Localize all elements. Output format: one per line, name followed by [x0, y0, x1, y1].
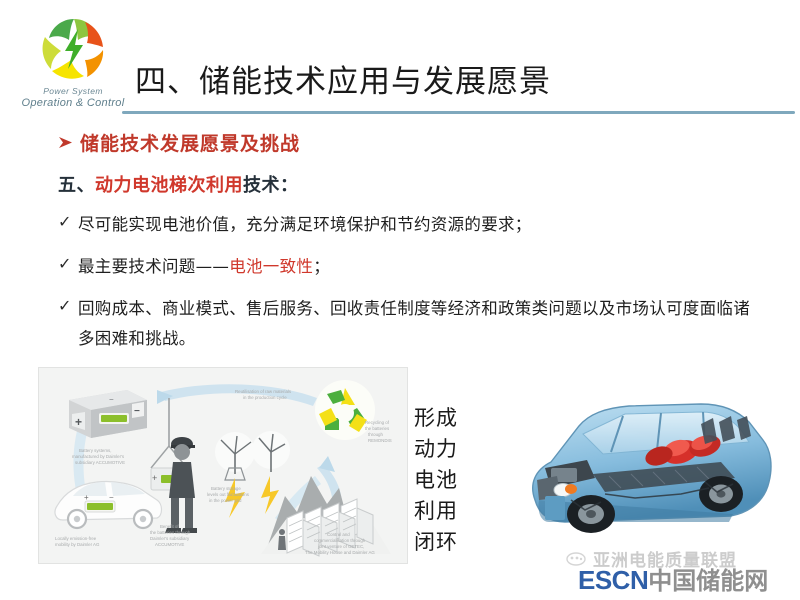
escn-chinese-text: 中国储能网 — [648, 561, 768, 596]
vertical-caption-line-1: 形成 — [414, 403, 474, 434]
recycling-icon — [315, 380, 375, 440]
power-swirl-lightning-icon — [32, 14, 116, 88]
check-icon: ✓ — [58, 252, 78, 278]
check-icon: ✓ — [58, 294, 78, 320]
vertical-caption-line-5: 闭环 — [414, 527, 474, 558]
vertical-caption-line-3: 电池 — [414, 465, 474, 496]
list-item: ✓ 回购成本、商业模式、售后服务、回收责任制度等经济和政策类问题以及市场认可度面… — [58, 294, 758, 354]
vertical-caption: 形成 动力 电池 利用 闭环 — [414, 403, 474, 558]
check-icon: ✓ — [58, 210, 78, 236]
vertical-caption-line-2: 动力 — [414, 434, 474, 465]
svg-text:commercialisation through: commercialisation through — [314, 538, 366, 543]
bullet-list: ✓ 尽可能实现电池价值，充分满足环境保护和节约资源的要求； ✓ 最主要技术问题—… — [58, 210, 758, 366]
cutaway-vehicle-svg — [505, 382, 795, 562]
escn-latin-text: ESCN — [578, 565, 648, 596]
section-number: 五、 — [58, 175, 95, 196]
svg-text:the batteries: the batteries — [365, 426, 390, 431]
list-item: ✓ 最主要技术问题——电池一致性； — [58, 252, 758, 282]
bullet-text-2: 最主要技术问题——电池一致性； — [78, 252, 330, 282]
svg-text:mobility by Daimler AG: mobility by Daimler AG — [55, 542, 100, 547]
svg-text:+: + — [84, 493, 89, 502]
svg-text:REMONDIS: REMONDIS — [368, 438, 392, 443]
escn-watermark: ESCN 中国储能网 — [578, 561, 768, 596]
svg-text:Battery systems,: Battery systems, — [79, 448, 111, 453]
svg-text:Daimler's subsidiary: Daimler's subsidiary — [150, 536, 190, 541]
svg-text:manufactured by Daimler's: manufactured by Daimler's — [72, 454, 125, 459]
logo-text-line1: Power System — [14, 86, 132, 96]
svg-text:Locally emission-free: Locally emission-free — [55, 536, 97, 541]
svg-text:−: − — [109, 493, 114, 502]
battery-lifecycle-infographic: + − − + − — [38, 367, 408, 564]
logo-text-line2: Operation & Control — [14, 97, 132, 109]
bullet-text-1: 尽可能实现电池价值，充分满足环境保护和节约资源的要求； — [78, 210, 532, 240]
svg-text:levels out fluctuations: levels out fluctuations — [207, 492, 250, 497]
bullet-text-3: 回购成本、商业模式、售后服务、回收责任制度等经济和政策类问题以及市场认可度面临诸… — [78, 294, 758, 354]
list-item: ✓ 尽可能实现电池价值，充分满足环境保护和节约资源的要求； — [58, 210, 758, 240]
svg-text:Control and: Control and — [327, 532, 350, 537]
svg-text:The Mobility House and Daimler: The Mobility House and Daimler AG — [305, 550, 375, 555]
svg-text:joint venture of GETEC,: joint venture of GETEC, — [317, 544, 364, 549]
svg-text:−: − — [134, 406, 140, 417]
section-suffix: 技术： — [243, 175, 299, 196]
red-arrow-bullet-icon — [58, 135, 73, 150]
lifecycle-diagram-svg: + − − + − — [39, 368, 407, 563]
title-divider — [122, 111, 795, 114]
svg-text:through: through — [368, 432, 383, 437]
svg-text:in the production cycle: in the production cycle — [243, 395, 287, 400]
svg-text:+: + — [75, 415, 82, 429]
vertical-caption-line-4: 利用 — [414, 496, 474, 527]
svg-text:+: + — [152, 473, 157, 483]
svg-text:in the power grid: in the power grid — [209, 498, 242, 503]
section-highlight: 动力电池梯次利用 — [95, 175, 243, 196]
svg-text:the batteries through: the batteries through — [150, 530, 191, 535]
svg-text:−: − — [109, 395, 114, 404]
slide-canvas: Power System Operation & Control 四、储能技术应… — [0, 0, 800, 600]
svg-text:Recycling of: Recycling of — [365, 420, 390, 425]
cutaway-vehicle-image — [505, 382, 795, 562]
svg-text:subsidiary ACCUMOTIVE: subsidiary ACCUMOTIVE — [75, 460, 125, 465]
page-title: 四、储能技术应用与发展愿景 — [135, 56, 551, 101]
subheading-label: 储能技术发展愿景及挑战 — [80, 129, 300, 156]
subheading: 储能技术发展愿景及挑战 — [58, 129, 300, 156]
svg-text:Reutilisation of raw materials: Reutilisation of raw materials — [235, 389, 292, 394]
svg-text:Battery storage: Battery storage — [211, 486, 241, 491]
svg-text:ACCUMOTIVE: ACCUMOTIVE — [155, 542, 184, 547]
section-line: 五、动力电池梯次利用技术： — [58, 171, 299, 197]
svg-text:Benefit of: Benefit of — [160, 524, 179, 529]
brand-logo: Power System Operation & Control — [14, 14, 132, 114]
